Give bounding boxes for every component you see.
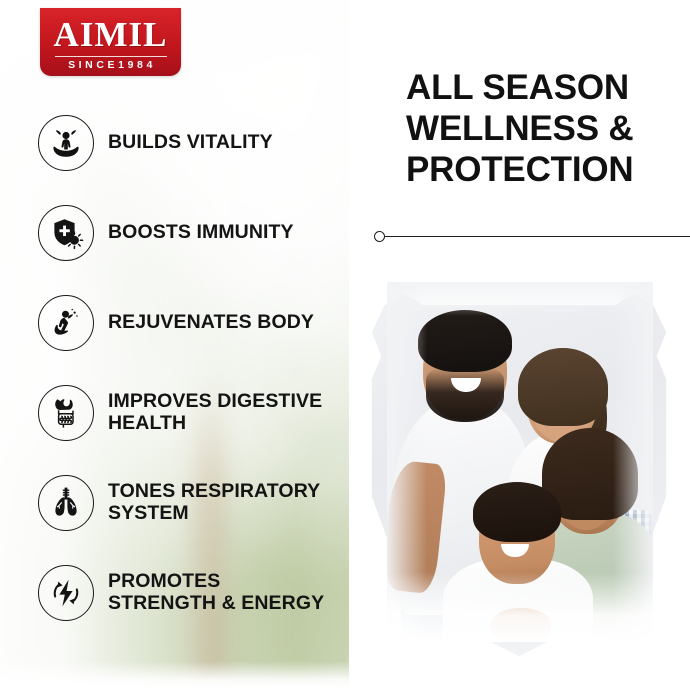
feature-item-promotes-strength-energy: PROMOTES STRENGTH & ENERGY [38, 548, 338, 638]
divider-circle-marker [374, 231, 385, 242]
headline-divider-line [377, 236, 690, 237]
son-hair [473, 482, 561, 542]
aimil-logo[interactable]: AIMIL SINCE1984 [40, 8, 181, 76]
feature-list: BUILDS VITALITY [38, 98, 338, 638]
headline-line-3: PROTECTION [406, 150, 682, 191]
stomach-intestine-icon [38, 385, 94, 441]
headline-line-2: WELLNESS & [406, 109, 682, 150]
panel-bottom-fade [0, 661, 349, 687]
feature-item-rejuvenates-body: REJUVENATES BODY [38, 278, 338, 368]
shield-virus-icon [38, 205, 94, 261]
logo-wordmark: AIMIL [54, 17, 168, 52]
feature-label: REJUVENATES BODY [108, 312, 314, 334]
family-of-four-photo [387, 282, 653, 642]
feature-label: TONES RESPIRATORY SYSTEM [108, 481, 333, 525]
product-banner: AIMIL SINCE1984 BUILDS VITALITY [0, 0, 690, 700]
daughter-hair [518, 348, 608, 426]
right-hero-panel: ALL SEASON WELLNESS & PROTECTION [349, 0, 690, 700]
feature-label: PROMOTES STRENGTH & ENERGY [108, 571, 333, 615]
feature-item-tones-respiratory-system: TONES RESPIRATORY SYSTEM [38, 458, 338, 548]
lungs-icon [38, 475, 94, 531]
feature-item-boosts-immunity: BOOSTS IMMUNITY [38, 188, 338, 278]
photo-fade-bottom [387, 572, 653, 642]
lightning-bolt-cycle-icon [38, 565, 94, 621]
page-title: ALL SEASON WELLNESS & PROTECTION [406, 68, 682, 191]
feature-label: BOOSTS IMMUNITY [108, 222, 294, 244]
father-beard [426, 368, 504, 422]
logo-divider-rule [55, 56, 167, 57]
rejuvenate-dancer-icon [38, 295, 94, 351]
vitality-person-icon [38, 115, 94, 171]
logo-tagline: SINCE1984 [65, 60, 156, 71]
feature-label: IMPROVES DIGESTIVE HEALTH [108, 391, 333, 435]
feature-label: BUILDS VITALITY [108, 132, 273, 154]
feature-item-builds-vitality: BUILDS VITALITY [38, 98, 338, 188]
feature-item-improves-digestive-health: IMPROVES DIGESTIVE HEALTH [38, 368, 338, 458]
shield-hero [359, 270, 679, 660]
father-hair [418, 310, 512, 372]
headline-line-1: ALL SEASON [406, 68, 682, 109]
